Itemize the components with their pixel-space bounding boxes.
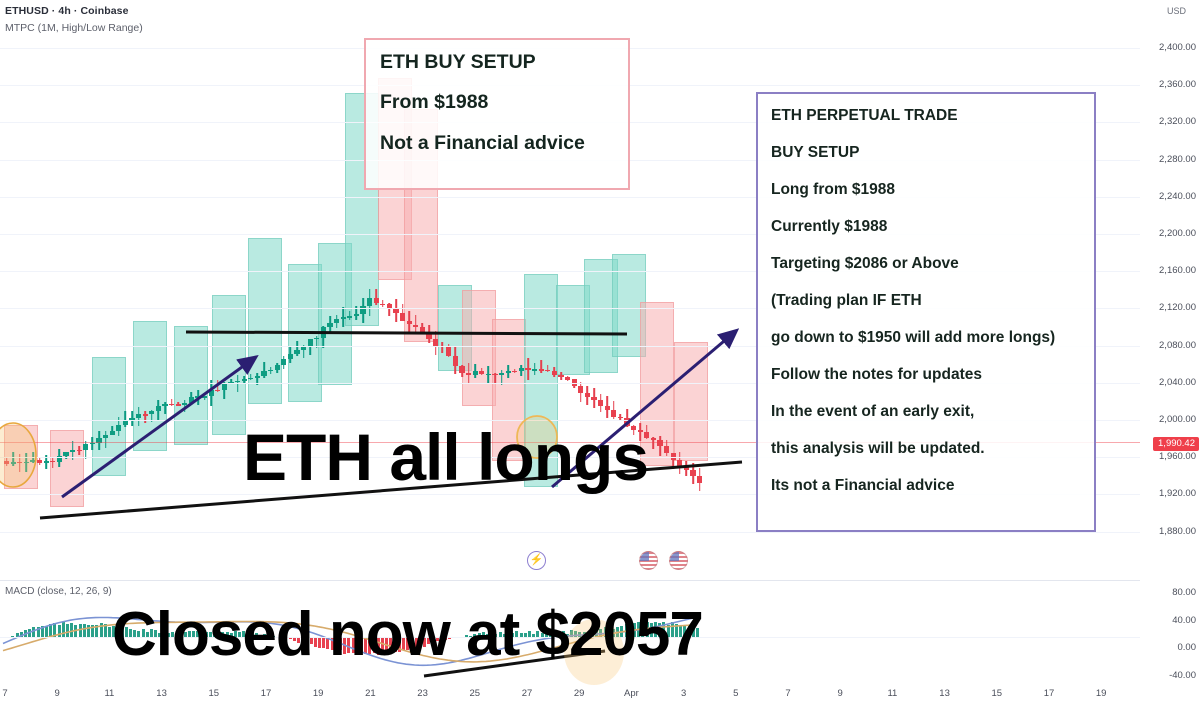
- perpetual-line: go down to $1950 will add more longs): [771, 329, 1082, 346]
- sparkle-icon-glyph: ⚡: [527, 551, 546, 570]
- time-axis-tick: 11: [104, 688, 114, 699]
- time-axis-tick: Apr: [624, 688, 639, 699]
- price-axis-tick: 2,320.00: [1159, 117, 1196, 127]
- time-axis-tick: 29: [574, 688, 585, 699]
- candlestick: [651, 437, 656, 449]
- candlestick: [294, 341, 299, 357]
- mtpc-range-box: [462, 290, 496, 406]
- candle-body: [103, 435, 108, 438]
- time-axis-tick: 13: [156, 688, 167, 699]
- candlestick: [558, 372, 563, 381]
- candlestick: [433, 331, 438, 355]
- perpetual-line: BUY SETUP: [771, 144, 1082, 161]
- candle-body: [327, 323, 332, 327]
- candle-body: [446, 347, 451, 356]
- candlestick: [189, 392, 194, 405]
- candle-body: [242, 379, 247, 381]
- candle-body: [215, 390, 220, 392]
- candle-wick: [488, 366, 490, 384]
- candle-body: [598, 400, 603, 406]
- price-axis[interactable]: USD 2,400.002,360.002,320.002,280.002,24…: [1140, 0, 1200, 707]
- candle-body: [149, 411, 154, 415]
- us-flag-event-icon[interactable]: [669, 551, 688, 570]
- candle-wick: [349, 311, 351, 321]
- candlestick: [393, 299, 398, 322]
- time-axis-tick: 13: [939, 688, 950, 699]
- candle-body: [347, 316, 352, 318]
- candle-body: [664, 446, 669, 453]
- candle-body: [611, 410, 616, 417]
- candlestick: [697, 468, 702, 492]
- candlestick: [506, 365, 511, 378]
- candle-body: [294, 350, 299, 353]
- us-flag-event-icon[interactable]: [639, 551, 658, 570]
- candlestick: [380, 300, 385, 307]
- price-axis-tick: 2,240.00: [1159, 192, 1196, 202]
- price-axis-tick: 1,880.00: [1159, 527, 1196, 537]
- candlestick: [420, 323, 425, 332]
- candle-body: [400, 313, 405, 321]
- tradingview-chart-screenshot: ETHUSD · 4h · Coinbase MTPC (1M, High/Lo…: [0, 0, 1200, 707]
- candlestick: [572, 379, 577, 388]
- candle-body: [222, 384, 227, 390]
- candlestick: [103, 431, 108, 447]
- candlestick: [334, 315, 339, 328]
- candlestick: [407, 311, 412, 332]
- candlestick: [360, 298, 365, 323]
- us-flag-icon-glyph: [669, 551, 688, 570]
- buy-setup-line: Not a Financial advice: [380, 133, 614, 153]
- candle-body: [123, 421, 128, 426]
- candlestick: [671, 453, 676, 469]
- candle-body: [255, 376, 260, 378]
- candle-body: [110, 431, 115, 435]
- candle-body: [162, 404, 167, 407]
- time-axis-tick: 15: [992, 688, 1003, 699]
- candle-body: [136, 414, 141, 418]
- time-axis-tick: 9: [838, 688, 843, 699]
- candlestick: [63, 452, 68, 459]
- candle-body: [50, 461, 55, 463]
- headline-closed-now: Closed now at $2057: [112, 604, 703, 666]
- candle-body: [426, 332, 431, 339]
- candle-body: [459, 366, 464, 373]
- candle-body: [486, 374, 491, 376]
- candle-body: [677, 460, 682, 466]
- candle-body: [354, 314, 359, 316]
- candle-body: [156, 406, 161, 410]
- candlestick: [539, 360, 544, 373]
- time-axis-tick: 5: [733, 688, 738, 699]
- price-axis-tick: 2,400.00: [1159, 43, 1196, 53]
- candle-body: [651, 438, 656, 440]
- price-axis-unit: USD: [1167, 6, 1186, 16]
- candlestick: [453, 346, 458, 374]
- candlestick: [162, 402, 167, 414]
- candle-body: [605, 406, 610, 410]
- candle-body: [697, 476, 702, 483]
- candle-body: [532, 369, 537, 371]
- candle-body: [473, 371, 478, 374]
- perpetual-line: Long from $1988: [771, 181, 1082, 198]
- candlestick: [525, 358, 530, 380]
- candle-body: [690, 470, 695, 476]
- candlestick: [209, 380, 214, 406]
- candle-body: [321, 327, 326, 338]
- candle-body: [420, 327, 425, 332]
- buy-setup-annotation-box[interactable]: ETH BUY SETUP From $1988 Not a Financial…: [364, 38, 630, 190]
- candle-body: [209, 390, 214, 396]
- candlestick: [413, 315, 418, 332]
- candle-body: [545, 370, 550, 372]
- candlestick: [598, 394, 603, 412]
- candlestick: [50, 458, 55, 468]
- macd-axis-tick: 0.00: [1178, 643, 1197, 653]
- time-axis-tick: 7: [2, 688, 7, 699]
- candlestick: [374, 289, 379, 305]
- candlestick: [281, 356, 286, 369]
- perpetual-line: In the event of an early exit,: [771, 403, 1082, 420]
- price-axis-tick: 1,960.00: [1159, 452, 1196, 462]
- candlestick: [90, 437, 95, 449]
- perpetual-line: ETH PERPETUAL TRADE: [771, 107, 1082, 124]
- candle-body: [380, 304, 385, 306]
- time-axis-tick: 25: [470, 688, 481, 699]
- candlestick: [611, 401, 616, 419]
- candle-body: [618, 417, 623, 419]
- candle-body: [301, 347, 306, 351]
- mtpc-range-box: [133, 321, 167, 450]
- perpetual-line: Its not a Financial advice: [771, 477, 1082, 494]
- candle-body: [24, 462, 29, 464]
- candle-wick: [540, 360, 542, 373]
- candle-body: [281, 359, 286, 365]
- candle-body: [143, 414, 148, 416]
- candlestick: [24, 453, 29, 472]
- candle-wick: [296, 341, 298, 357]
- candle-body: [453, 356, 458, 366]
- symbol-legend: ETHUSD · 4h · Coinbase: [5, 5, 143, 17]
- candlestick: [11, 452, 16, 466]
- candlestick: [136, 407, 141, 427]
- candle-body: [558, 375, 563, 377]
- candlestick: [459, 365, 464, 377]
- indicator-legend: MTPC (1M, High/Low Range): [5, 22, 143, 34]
- candlestick: [261, 362, 266, 378]
- candlestick: [519, 365, 524, 376]
- candle-body: [374, 298, 379, 303]
- pane-separator: [0, 580, 1140, 581]
- time-axis-tick: 23: [417, 688, 428, 699]
- price-axis-tick: 2,280.00: [1159, 155, 1196, 165]
- candle-body: [367, 298, 372, 306]
- candle-body: [565, 377, 570, 379]
- mtpc-range-box: [288, 264, 322, 402]
- candle-body: [195, 396, 200, 398]
- candlestick: [169, 399, 174, 406]
- candle-body: [30, 460, 35, 462]
- candle-body: [552, 371, 557, 375]
- candlestick: [479, 368, 484, 375]
- candlestick: [512, 369, 517, 373]
- perpetual-line: Currently $1988: [771, 218, 1082, 235]
- candle-wick: [52, 458, 54, 468]
- candlestick: [440, 342, 445, 353]
- candle-body: [261, 371, 266, 376]
- candle-body: [499, 373, 504, 375]
- time-axis-tick: 3: [681, 688, 686, 699]
- candlestick: [96, 431, 101, 451]
- candle-body: [591, 397, 596, 399]
- candlestick: [347, 311, 352, 321]
- time-axis-tick: 7: [785, 688, 790, 699]
- candle-body: [37, 460, 42, 463]
- candlestick: [248, 374, 253, 380]
- time-axis[interactable]: 7911131517192123252729Apr35791113151719: [0, 681, 1200, 707]
- candle-body: [83, 444, 88, 450]
- candle-body: [585, 393, 590, 397]
- price-axis-tick: 2,040.00: [1159, 378, 1196, 388]
- candlestick: [473, 364, 478, 378]
- candlestick: [301, 345, 306, 358]
- candlestick: [486, 366, 491, 384]
- macd-axis-tick: 80.00: [1172, 588, 1196, 598]
- buy-setup-line: ETH BUY SETUP: [380, 52, 614, 72]
- price-axis-tick: 2,160.00: [1159, 266, 1196, 276]
- candlestick: [37, 457, 42, 465]
- candlestick: [222, 382, 227, 398]
- price-axis-tick: 2,000.00: [1159, 415, 1196, 425]
- perpetual-line: this analysis will be updated.: [771, 440, 1082, 457]
- price-axis-tick: 2,360.00: [1159, 80, 1196, 90]
- candle-body: [268, 370, 273, 372]
- candlestick: [565, 376, 570, 381]
- candlestick: [176, 402, 181, 406]
- candlestick: [367, 289, 372, 316]
- time-axis-tick: 11: [887, 688, 897, 699]
- perpetual-trade-annotation-box[interactable]: ETH PERPETUAL TRADE BUY SETUP Long from …: [756, 92, 1096, 532]
- price-axis-tick: 2,080.00: [1159, 341, 1196, 351]
- time-axis-tick: 21: [365, 688, 376, 699]
- candlestick: [123, 411, 128, 427]
- candlestick: [545, 365, 550, 373]
- perpetual-line: (Trading plan IF ETH: [771, 292, 1082, 309]
- candlestick: [341, 307, 346, 327]
- candle-body: [116, 425, 121, 431]
- candlestick: [677, 452, 682, 475]
- candlestick: [288, 347, 293, 363]
- candlestick: [77, 446, 82, 456]
- macd-axis-tick: 40.00: [1172, 616, 1196, 626]
- candlestick: [605, 396, 610, 417]
- perpetual-line: Follow the notes for updates: [771, 366, 1082, 383]
- candlestick: [275, 363, 280, 373]
- candlestick: [532, 363, 537, 375]
- mtpc-range-box: [212, 295, 246, 435]
- candle-body: [275, 365, 280, 370]
- headline-eth-all-longs: ETH all longs: [243, 424, 648, 490]
- candle-body: [512, 371, 517, 373]
- perpetual-line: Targeting $2086 or Above: [771, 255, 1082, 272]
- chart-legend: ETHUSD · 4h · Coinbase MTPC (1M, High/Lo…: [5, 5, 143, 34]
- time-axis-tick: 17: [261, 688, 272, 699]
- candle-body: [314, 338, 319, 340]
- candle-body: [578, 386, 583, 393]
- candlestick: [327, 316, 332, 333]
- candle-body: [413, 325, 418, 328]
- candle-body: [466, 373, 471, 375]
- candle-body: [182, 403, 187, 405]
- candlestick: [268, 367, 273, 374]
- time-axis-tick: 27: [522, 688, 533, 699]
- candlestick: [426, 325, 431, 343]
- us-flag-icon-glyph: [639, 551, 658, 570]
- macd-legend: MACD (close, 12, 26, 9): [5, 586, 112, 597]
- candle-body: [77, 450, 82, 452]
- candle-body: [189, 397, 194, 403]
- price-axis-tick: 2,120.00: [1159, 303, 1196, 313]
- candlestick: [684, 461, 689, 477]
- candle-body: [11, 462, 16, 465]
- mtpc-range-box: [174, 326, 208, 445]
- candlestick: [552, 367, 557, 377]
- candle-body: [334, 319, 339, 323]
- candle-body: [525, 368, 530, 370]
- price-axis-tick: 1,920.00: [1159, 489, 1196, 499]
- candle-body: [519, 368, 524, 371]
- candle-body: [407, 321, 412, 324]
- candle-body: [288, 354, 293, 359]
- candlestick: [110, 426, 115, 435]
- candlestick: [387, 303, 392, 316]
- current-price-badge[interactable]: 1,990.42: [1153, 437, 1199, 451]
- candle-body: [176, 404, 181, 406]
- price-axis-tick: 2,200.00: [1159, 229, 1196, 239]
- candlestick: [585, 386, 590, 405]
- candle-body: [70, 450, 75, 453]
- candlestick: [466, 363, 471, 384]
- macd-axis-tick: -40.00: [1169, 671, 1196, 681]
- candle-body: [63, 452, 68, 456]
- candle-body: [492, 374, 497, 376]
- candlestick: [400, 304, 405, 321]
- time-axis-tick: 17: [1044, 688, 1055, 699]
- candle-body: [539, 369, 544, 371]
- candle-body: [44, 461, 49, 463]
- time-axis-tick: 9: [55, 688, 60, 699]
- candlestick: [195, 390, 200, 405]
- candle-body: [4, 461, 9, 464]
- candle-body: [248, 378, 253, 380]
- candlestick: [156, 400, 161, 420]
- candlestick: [202, 396, 207, 400]
- time-axis-tick: 15: [209, 688, 220, 699]
- candle-wick: [105, 431, 107, 447]
- candle-body: [387, 304, 392, 308]
- candlestick: [129, 411, 134, 425]
- candlestick: [657, 436, 662, 456]
- candle-body: [169, 404, 174, 406]
- sparkle-event-icon[interactable]: ⚡: [527, 551, 546, 570]
- candlestick: [578, 382, 583, 402]
- buy-setup-line: From $1988: [380, 92, 614, 112]
- candlestick: [690, 463, 695, 483]
- candle-body: [17, 462, 22, 464]
- candle-body: [479, 371, 484, 374]
- candlestick: [308, 339, 313, 355]
- mtpc-range-box: [674, 342, 708, 461]
- candle-body: [684, 466, 689, 470]
- candlestick: [591, 388, 596, 408]
- candlestick: [182, 400, 187, 411]
- candle-body: [506, 371, 511, 373]
- time-axis-tick: 19: [313, 688, 324, 699]
- time-axis-tick: 19: [1096, 688, 1107, 699]
- candle-body: [202, 396, 207, 398]
- candle-body: [341, 317, 346, 319]
